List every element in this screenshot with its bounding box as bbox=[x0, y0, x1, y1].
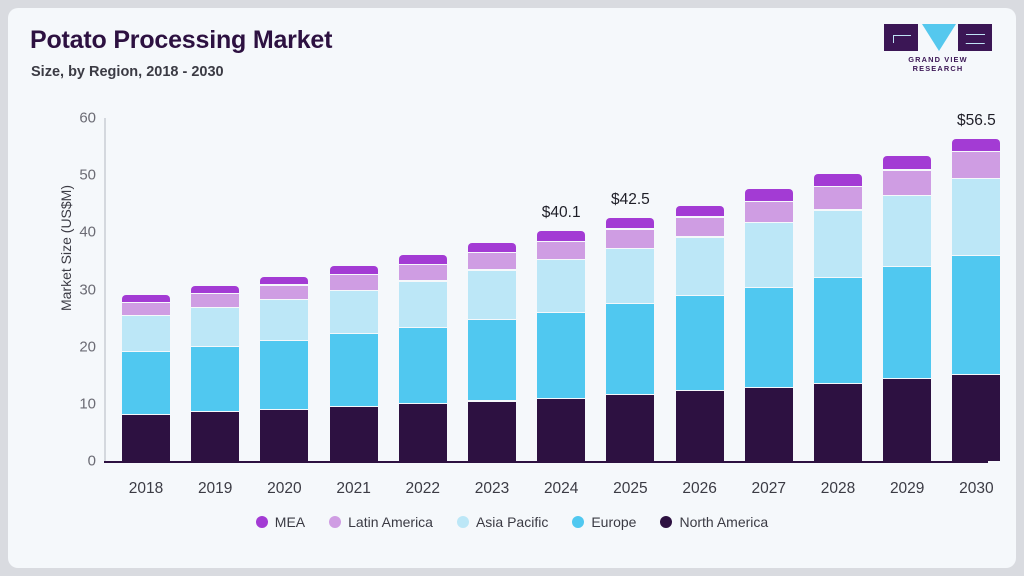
bar-segment-mea[interactable] bbox=[468, 243, 516, 252]
bar-segment-north-america[interactable] bbox=[399, 404, 447, 461]
bar-segment-europe[interactable] bbox=[745, 288, 793, 387]
bar-segment-europe[interactable] bbox=[330, 334, 378, 406]
bar-segment-mea[interactable] bbox=[952, 139, 1000, 151]
legend-label: Europe bbox=[591, 514, 636, 530]
bar-segment-asia-pacific[interactable] bbox=[676, 238, 724, 296]
bar-segment-north-america[interactable] bbox=[122, 415, 170, 461]
bar-segment-north-america[interactable] bbox=[952, 375, 1000, 461]
bar-segment-latin-america[interactable] bbox=[330, 275, 378, 290]
bar-segment-europe[interactable] bbox=[468, 320, 516, 400]
bar-segment-europe[interactable] bbox=[952, 256, 1000, 373]
bar-2029[interactable] bbox=[883, 155, 931, 461]
bar-segment-north-america[interactable] bbox=[537, 399, 585, 461]
bar-value-label-2030: $56.5 bbox=[952, 112, 1000, 130]
bar-segment-europe[interactable] bbox=[606, 304, 654, 393]
bar-segment-asia-pacific[interactable] bbox=[330, 291, 378, 333]
stacked-bar-chart: Market Size (US$M) 0102030405060 $40.1$4… bbox=[8, 8, 1016, 568]
bar-segment-latin-america[interactable] bbox=[399, 265, 447, 280]
legend-label: Asia Pacific bbox=[476, 514, 548, 530]
legend-swatch-icon bbox=[256, 516, 268, 528]
bar-segment-latin-america[interactable] bbox=[676, 218, 724, 237]
bar-segment-europe[interactable] bbox=[399, 328, 447, 403]
legend-item-mea[interactable]: MEA bbox=[256, 514, 305, 530]
legend-item-north-america[interactable]: North America bbox=[660, 514, 768, 530]
bar-segment-mea[interactable] bbox=[399, 255, 447, 264]
legend-item-asia-pacific[interactable]: Asia Pacific bbox=[457, 514, 548, 530]
legend-swatch-icon bbox=[329, 516, 341, 528]
legend-item-latin-america[interactable]: Latin America bbox=[329, 514, 433, 530]
bar-segment-mea[interactable] bbox=[814, 174, 862, 187]
bar-segment-asia-pacific[interactable] bbox=[952, 179, 1000, 255]
bar-segment-mea[interactable] bbox=[745, 189, 793, 201]
y-axis-tick-label: 10 bbox=[52, 395, 96, 412]
bar-segment-latin-america[interactable] bbox=[537, 242, 585, 259]
chart-card: Potato Processing Market Size, by Region… bbox=[8, 8, 1016, 568]
bar-segment-asia-pacific[interactable] bbox=[260, 300, 308, 339]
legend-label: MEA bbox=[275, 514, 305, 530]
bar-segment-europe[interactable] bbox=[260, 341, 308, 409]
bar-2025[interactable] bbox=[606, 217, 654, 461]
chart-legend: MEALatin AmericaAsia PacificEuropeNorth … bbox=[8, 514, 1016, 530]
bar-2019[interactable] bbox=[191, 285, 239, 461]
bar-segment-europe[interactable] bbox=[883, 267, 931, 377]
bar-segment-latin-america[interactable] bbox=[814, 187, 862, 209]
y-axis-tick-label: 40 bbox=[52, 224, 96, 241]
bar-segment-europe[interactable] bbox=[122, 352, 170, 414]
bar-segment-europe[interactable] bbox=[537, 313, 585, 398]
bar-segment-europe[interactable] bbox=[676, 296, 724, 390]
bar-2027[interactable] bbox=[745, 188, 793, 461]
bar-segment-latin-america[interactable] bbox=[260, 286, 308, 300]
bar-segment-asia-pacific[interactable] bbox=[606, 249, 654, 303]
bar-segment-north-america[interactable] bbox=[191, 412, 239, 461]
legend-swatch-icon bbox=[660, 516, 672, 528]
y-axis-tick-label: 20 bbox=[52, 338, 96, 355]
bar-2018[interactable] bbox=[122, 294, 170, 461]
bar-segment-latin-america[interactable] bbox=[952, 152, 1000, 178]
bar-2024[interactable] bbox=[537, 230, 585, 461]
bar-segment-mea[interactable] bbox=[330, 266, 378, 274]
bar-2023[interactable] bbox=[468, 241, 516, 461]
bar-segment-asia-pacific[interactable] bbox=[122, 316, 170, 351]
legend-label: North America bbox=[679, 514, 768, 530]
bar-value-label-2025: $42.5 bbox=[606, 191, 654, 209]
bar-segment-north-america[interactable] bbox=[468, 402, 516, 461]
bar-segment-mea[interactable] bbox=[676, 206, 724, 217]
bar-value-label-2024: $40.1 bbox=[537, 204, 585, 222]
bar-segment-mea[interactable] bbox=[606, 218, 654, 228]
bar-segment-latin-america[interactable] bbox=[191, 294, 239, 307]
bar-2021[interactable] bbox=[330, 265, 378, 461]
bar-segment-asia-pacific[interactable] bbox=[883, 196, 931, 266]
bar-segment-mea[interactable] bbox=[883, 156, 931, 170]
bar-segment-asia-pacific[interactable] bbox=[468, 271, 516, 320]
bar-segment-asia-pacific[interactable] bbox=[814, 211, 862, 277]
legend-item-europe[interactable]: Europe bbox=[572, 514, 636, 530]
bar-segment-europe[interactable] bbox=[814, 278, 862, 383]
y-axis-tick-label: 60 bbox=[52, 110, 96, 127]
bar-segment-asia-pacific[interactable] bbox=[191, 308, 239, 345]
bar-segment-north-america[interactable] bbox=[883, 379, 931, 461]
x-axis-line bbox=[104, 461, 988, 463]
bar-segment-mea[interactable] bbox=[122, 295, 170, 301]
bar-segment-asia-pacific[interactable] bbox=[537, 260, 585, 311]
bar-segment-latin-america[interactable] bbox=[468, 253, 516, 270]
bar-segment-latin-america[interactable] bbox=[745, 202, 793, 222]
bar-segment-north-america[interactable] bbox=[330, 407, 378, 461]
bar-segment-mea[interactable] bbox=[191, 286, 239, 293]
bar-segment-north-america[interactable] bbox=[606, 395, 654, 461]
bar-segment-north-america[interactable] bbox=[745, 388, 793, 461]
bar-segment-latin-america[interactable] bbox=[606, 230, 654, 248]
bar-segment-asia-pacific[interactable] bbox=[399, 282, 447, 328]
bar-2020[interactable] bbox=[260, 276, 308, 461]
y-axis-tick-label: 30 bbox=[52, 281, 96, 298]
y-axis-tick-label: 0 bbox=[52, 453, 96, 470]
bar-segment-asia-pacific[interactable] bbox=[745, 223, 793, 286]
bar-segment-north-america[interactable] bbox=[676, 391, 724, 461]
bar-2026[interactable] bbox=[676, 204, 724, 461]
bar-segment-latin-america[interactable] bbox=[122, 303, 170, 316]
bar-2022[interactable] bbox=[399, 254, 447, 461]
bar-segment-mea[interactable] bbox=[537, 231, 585, 241]
legend-label: Latin America bbox=[348, 514, 433, 530]
bar-segment-mea[interactable] bbox=[260, 277, 308, 284]
bar-2028[interactable] bbox=[814, 172, 862, 461]
legend-swatch-icon bbox=[572, 516, 584, 528]
bar-segment-europe[interactable] bbox=[191, 347, 239, 412]
legend-swatch-icon bbox=[457, 516, 469, 528]
bar-2030[interactable] bbox=[952, 138, 1000, 461]
bar-segment-latin-america[interactable] bbox=[883, 171, 931, 196]
bar-segment-north-america[interactable] bbox=[260, 410, 308, 461]
y-axis-line bbox=[104, 118, 106, 461]
y-axis-tick-label: 50 bbox=[52, 167, 96, 184]
bar-segment-north-america[interactable] bbox=[814, 384, 862, 461]
